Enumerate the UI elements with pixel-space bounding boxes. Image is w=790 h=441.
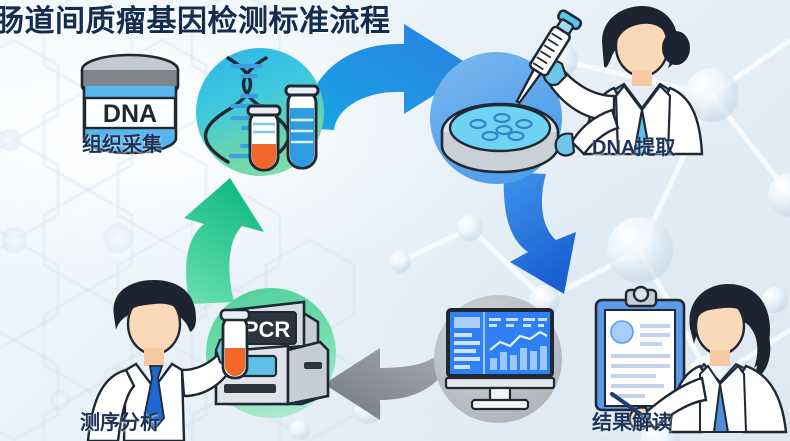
sample-vial-icon	[218, 308, 252, 382]
arrow-right-down-flow	[498, 170, 618, 300]
page-title: 肠道间质瘤基因检测标准流程	[0, 2, 391, 42]
scientist-clipboard-figure	[672, 282, 790, 432]
jar-dna-text: DNA	[103, 100, 157, 128]
step-label-dna-extraction: DNA提取	[592, 131, 675, 160]
step-label-result-interpretation: 结果解读	[592, 406, 672, 435]
step-label-tissue-collection: 组织采集	[82, 128, 162, 157]
dna-helix-test-tubes-icon	[200, 52, 322, 174]
infographic-canvas: 肠道间质瘤基因检测标准流程	[0, 0, 790, 441]
monitor-dashboard-icon	[444, 306, 556, 412]
pipette-icon	[500, 6, 590, 116]
step-label-sequencing-analysis: 测序分析	[80, 406, 160, 435]
